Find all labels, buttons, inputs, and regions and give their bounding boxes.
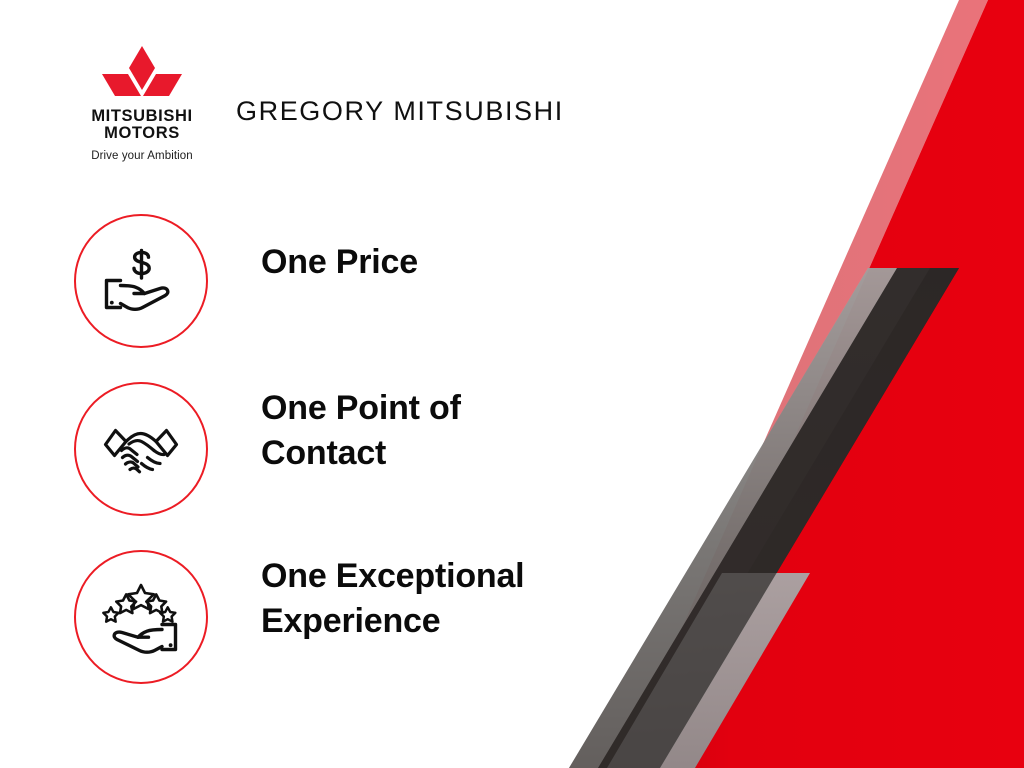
feature-list: One Price [0,212,640,716]
feature-icon-circle [74,214,208,348]
handshake-icon [99,416,183,482]
feature-label: One Point of Contact [261,386,621,476]
brand-tagline: Drive your Ambition [72,150,212,162]
brand-logo-block: MITSUBISHI MOTORS Drive your Ambition [72,44,212,162]
feature-label: One Price [261,240,621,285]
hand-holding-five-stars-icon [96,580,186,654]
feature-row: One Exceptional Experience [0,548,640,716]
feature-row: One Point of Contact [0,380,640,548]
feature-icon-circle [74,550,208,684]
mitsubishi-wordmark-line2: MOTORS [72,125,212,142]
feature-icon-circle [74,382,208,516]
mitsubishi-three-diamonds-icon [94,44,190,102]
mitsubishi-wordmark: MITSUBISHI MOTORS [72,108,212,143]
mitsubishi-wordmark-line1: MITSUBISHI [72,108,212,125]
feature-row: One Price [0,212,640,380]
slide-canvas: MITSUBISHI MOTORS Drive your Ambition GR… [0,0,1024,768]
hand-holding-dollar-icon [98,244,184,318]
feature-label: One Exceptional Experience [261,554,621,644]
dealer-name: GREGORY MITSUBISHI [236,96,564,127]
